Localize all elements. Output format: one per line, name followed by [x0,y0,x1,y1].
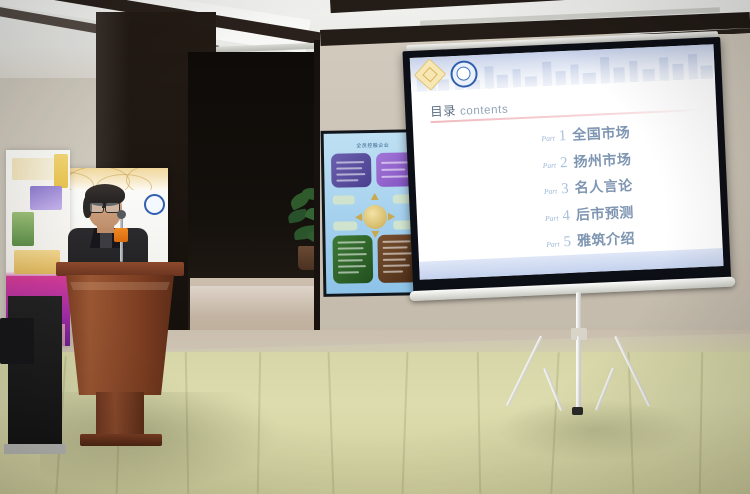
blue-circle-inner [456,66,471,81]
carpet-pattern-line [328,352,335,494]
carpet-pattern-line [699,352,703,494]
toc-part-label: Part [541,134,555,144]
toc-label: 名人言论 [574,175,633,198]
podium-highlight [70,282,170,290]
standee-box [331,153,372,188]
standee-arrow [388,213,395,221]
tripod-projection-screen: 目录contents Part 1 全国市场 Part 2 扬州市场 Part … [402,37,731,303]
tripod-brace-right [595,367,615,411]
floor-cable [22,366,57,418]
toc-label: 全国市场 [572,122,631,145]
standee-center-hub [363,205,387,229]
toc-item: Part 4 后市预测 [545,198,722,226]
toc-number: 4 [562,208,570,223]
standee-arrow [371,231,379,238]
tripod-brace-left [543,367,563,411]
standee-arrow [355,213,362,221]
toc-part-label: Part [544,186,558,196]
standee-tag [333,221,357,230]
standee-tag [333,195,355,204]
slide-table-of-contents: Part 1 全国市场 Part 2 扬州市场 Part 3 名人言论 Part… [541,118,723,258]
podium-base [80,434,162,446]
microphone-flag [114,228,128,242]
slide-title: 目录contents [430,98,509,121]
presentation-room-photo: 全员控股企业 [0,0,750,494]
toc-label: 雅筑介绍 [577,228,636,251]
wooden-lectern [56,262,184,450]
microphone-head [117,210,126,219]
toc-item: Part 1 全国市场 [541,118,718,146]
toc-item: Part 3 名人言论 [543,171,720,199]
banner-photo [12,212,34,246]
banner-photo [30,186,62,210]
tripod-leg-center [577,336,580,410]
toc-number: 2 [560,155,568,170]
gold-diamond-inner [422,67,438,83]
standee-arrow [371,193,379,200]
slide-title-cn: 目录 [430,104,456,119]
toc-label: 后市预测 [575,202,634,225]
glasses-bridge [102,206,106,208]
toc-part-label: Part [546,239,560,249]
podium-column [96,392,144,438]
presentation-slide: 目录contents Part 1 全国市场 Part 2 扬州市场 Part … [410,44,724,280]
toc-part-label: Part [545,213,559,223]
toc-number: 3 [561,182,569,197]
toc-number: 5 [563,235,571,250]
carpet-pattern-line [402,352,409,494]
podium-metal-foot [4,444,66,454]
carpet-pattern-line [477,352,481,494]
tripod-foot [572,407,583,415]
slide-title-en: contents [460,104,509,118]
screen-tripod-stand [516,292,676,420]
toc-item: Part 5 雅筑介绍 [546,224,723,252]
podium-top-surface [56,262,184,276]
banner-yellow-strip [54,154,68,188]
toc-number: 1 [558,129,566,144]
banner-photo [14,250,60,274]
toc-part-label: Part [543,160,557,170]
toc-item: Part 2 扬州市场 [542,145,719,173]
tripod-leg-right [614,335,651,406]
podium-front-panel [66,275,174,395]
toc-label: 扬州市场 [573,149,632,172]
corridor-floor-reflection [190,286,318,316]
standee-box [332,235,373,284]
